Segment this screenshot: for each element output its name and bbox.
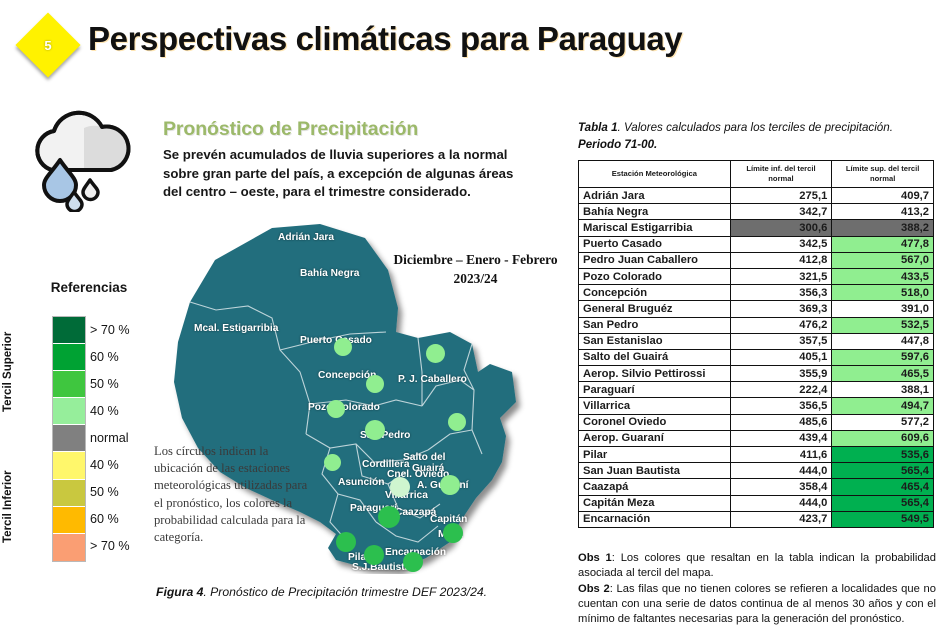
cell-lower-limit: 356,3 — [730, 285, 832, 301]
cell-upper-limit: 388,1 — [832, 382, 934, 398]
station-marker-0 — [334, 338, 352, 356]
cell-station: Encarnación — [579, 511, 731, 527]
table-head: Estación Meteorológica Límite inf. del t… — [579, 161, 934, 188]
cell-upper-limit: 535,6 — [832, 447, 934, 463]
table-row: Aerop. Silvio Pettirossi355,9465,5 — [579, 366, 934, 382]
legend-label-1: 60 % — [90, 343, 162, 370]
cell-lower-limit: 342,7 — [730, 204, 832, 220]
station-marker-2 — [366, 375, 384, 393]
cell-station: Mariscal Estigarribia — [579, 220, 731, 236]
cell-station: Bahía Negra — [579, 204, 731, 220]
cell-lower-limit: 358,4 — [730, 479, 832, 495]
table-row: Puerto Casado342,5477,8 — [579, 236, 934, 252]
legend-swatch-6 — [53, 480, 85, 507]
observations-notes: Obs 1: Los colores que resaltan en la ta… — [578, 551, 936, 627]
cell-lower-limit: 356,5 — [730, 398, 832, 414]
cell-lower-limit: 485,6 — [730, 414, 832, 430]
cell-station: Coronel Oviedo — [579, 414, 731, 430]
legend-label-4: normal — [90, 424, 162, 451]
cell-upper-limit: 609,6 — [832, 430, 934, 446]
table-caption-text: . Valores calculados para los terciles d… — [618, 121, 893, 134]
forecast-heading: Pronóstico de Precipitación — [163, 118, 418, 141]
map-period-label: Diciembre – Enero - Febrero 2023/24 — [383, 250, 568, 288]
table-row: Capitán Meza444,0565,4 — [579, 495, 934, 511]
cell-upper-limit: 391,0 — [832, 301, 934, 317]
page-header: 5 Perspectivas climáticas para Paraguay — [0, 0, 944, 88]
cell-lower-limit: 444,0 — [730, 495, 832, 511]
station-marker-10 — [443, 523, 463, 543]
table-caption-period: Periodo 71-00. — [578, 138, 657, 151]
cell-upper-limit: 465,4 — [832, 479, 934, 495]
station-marker-13 — [403, 552, 423, 572]
legend-swatch-7 — [53, 507, 85, 534]
table-row: Caazapá358,4465,4 — [579, 479, 934, 495]
map-circles-note: Los círculos indican la ubicación de las… — [154, 443, 314, 546]
table-row: Pozo Colorado321,5433,5 — [579, 268, 934, 284]
cell-upper-limit: 413,2 — [832, 204, 934, 220]
table-row: San Pedro476,2532,5 — [579, 317, 934, 333]
cell-lower-limit: 369,3 — [730, 301, 832, 317]
figure-caption-text: . Pronóstico de Precipitación trimestre … — [203, 585, 487, 599]
cell-upper-limit: 577,2 — [832, 414, 934, 430]
legend-label-7: 60 % — [90, 506, 162, 533]
station-marker-3 — [327, 400, 345, 418]
cell-upper-limit: 465,5 — [832, 366, 934, 382]
station-marker-5 — [448, 413, 466, 431]
station-marker-4 — [365, 420, 385, 440]
section-number-label: 5 — [25, 22, 71, 68]
table-row: Coronel Oviedo485,6577,2 — [579, 414, 934, 430]
legend-color-bar — [52, 316, 86, 562]
table-row: Paraguarí222,4388,1 — [579, 382, 934, 398]
station-marker-7 — [390, 477, 410, 497]
cell-station: Puerto Casado — [579, 236, 731, 252]
cell-station: General Bruguéz — [579, 301, 731, 317]
table-row: San Juan Bautista444,0565,4 — [579, 463, 934, 479]
forecast-description: Se prevén acumulados de lluvia superiore… — [163, 146, 523, 202]
observation-2: Obs 2: Las filas que no tienen colores s… — [578, 582, 936, 628]
cell-station: San Pedro — [579, 317, 731, 333]
table-row: Pilar411,6535,6 — [579, 447, 934, 463]
table-row: Salto del Guairá405,1597,6 — [579, 349, 934, 365]
cell-station: Aerop. Silvio Pettirossi — [579, 366, 731, 382]
table-header-row: Estación Meteorológica Límite inf. del t… — [579, 161, 934, 188]
table-row: Pedro Juan Caballero412,8567,0 — [579, 252, 934, 268]
legend-swatch-8 — [53, 534, 85, 561]
figure-caption-label: Figura 4 — [156, 585, 203, 599]
legend-label-3: 40 % — [90, 397, 162, 424]
observation-label-2: Obs 2 — [578, 583, 610, 595]
cell-station: Caazapá — [579, 479, 731, 495]
cell-lower-limit: 412,8 — [730, 252, 832, 268]
cell-station: Pedro Juan Caballero — [579, 252, 731, 268]
legend-swatch-5 — [53, 452, 85, 479]
table-row: San Estanislao357,5447,8 — [579, 333, 934, 349]
cell-lower-limit: 222,4 — [730, 382, 832, 398]
cell-upper-limit: 388,2 — [832, 220, 934, 236]
station-marker-6 — [324, 454, 341, 471]
page-title: Perspectivas climáticas para Paraguay — [88, 20, 682, 58]
station-marker-12 — [364, 545, 384, 565]
legend-swatch-4 — [53, 425, 85, 452]
cell-lower-limit: 444,0 — [730, 463, 832, 479]
cell-lower-limit: 357,5 — [730, 333, 832, 349]
station-marker-11 — [336, 532, 356, 552]
cell-upper-limit: 532,5 — [832, 317, 934, 333]
station-marker-1 — [426, 344, 445, 363]
figure-caption: Figura 4. Pronóstico de Precipitación tr… — [156, 585, 556, 599]
legend-label-0: > 70 % — [90, 316, 162, 343]
legend-label-2: 50 % — [90, 370, 162, 397]
legend-upper-tercile-label: Tercil Superior — [2, 318, 14, 426]
observation-label-1: Obs 1 — [578, 552, 612, 564]
cell-station: Paraguarí — [579, 382, 731, 398]
cell-lower-limit: 439,4 — [730, 430, 832, 446]
cell-station: San Juan Bautista — [579, 463, 731, 479]
column-header-upper-limit: Límite sup. del tercil normal — [832, 161, 934, 188]
legend-swatch-2 — [53, 371, 85, 398]
table-body: Adrián Jara275,1409,7Bahía Negra342,7413… — [579, 188, 934, 528]
observation-text-2: : Las filas que no tienen colores se ref… — [578, 583, 936, 626]
legend-label-5: 40 % — [90, 452, 162, 479]
cell-station: Villarrica — [579, 398, 731, 414]
cell-lower-limit: 355,9 — [730, 366, 832, 382]
cell-upper-limit: 565,4 — [832, 495, 934, 511]
cell-upper-limit: 565,4 — [832, 463, 934, 479]
cell-upper-limit: 549,5 — [832, 511, 934, 527]
cell-lower-limit: 321,5 — [730, 268, 832, 284]
cell-lower-limit: 342,5 — [730, 236, 832, 252]
cell-station: Capitán Meza — [579, 495, 731, 511]
cell-upper-limit: 494,7 — [832, 398, 934, 414]
cell-station: Concepción — [579, 285, 731, 301]
cell-upper-limit: 477,8 — [832, 236, 934, 252]
legend-label-6: 50 % — [90, 479, 162, 506]
column-header-station: Estación Meteorológica — [579, 161, 731, 188]
legend-label-8: > 70 % — [90, 533, 162, 560]
table-row: Adrián Jara275,1409,7 — [579, 188, 934, 204]
cell-station: Aerop. Guaraní — [579, 430, 731, 446]
table-row: Mariscal Estigarribia300,6388,2 — [579, 220, 934, 236]
cell-upper-limit: 597,6 — [832, 349, 934, 365]
cell-station: San Estanislao — [579, 333, 731, 349]
cell-station: Pilar — [579, 447, 731, 463]
map-period-line2: 2023/24 — [383, 269, 568, 288]
cell-lower-limit: 300,6 — [730, 220, 832, 236]
table-caption-label: Tabla 1 — [578, 121, 618, 134]
legend-swatch-3 — [53, 398, 85, 425]
cell-lower-limit: 411,6 — [730, 447, 832, 463]
cell-upper-limit: 447,8 — [832, 333, 934, 349]
cell-lower-limit: 275,1 — [730, 188, 832, 204]
cell-upper-limit: 567,0 — [832, 252, 934, 268]
cell-upper-limit: 409,7 — [832, 188, 934, 204]
table-row: General Bruguéz369,3391,0 — [579, 301, 934, 317]
legend-swatch-1 — [53, 344, 85, 371]
table-row: Villarrica356,5494,7 — [579, 398, 934, 414]
cell-station: Salto del Guairá — [579, 349, 731, 365]
cell-station: Adrián Jara — [579, 188, 731, 204]
table-row: Aerop. Guaraní439,4609,6 — [579, 430, 934, 446]
table-row: Concepción356,3518,0 — [579, 285, 934, 301]
observation-1: Obs 1: Los colores que resaltan en la ta… — [578, 551, 936, 582]
table-caption: Tabla 1. Valores calculados para los ter… — [578, 120, 936, 153]
legend-swatch-0 — [53, 317, 85, 344]
table-row: Bahía Negra342,7413,2 — [579, 204, 934, 220]
station-marker-8 — [440, 475, 460, 495]
cell-upper-limit: 518,0 — [832, 285, 934, 301]
tercile-values-table: Estación Meteorológica Límite inf. del t… — [578, 160, 934, 528]
cell-lower-limit: 405,1 — [730, 349, 832, 365]
column-header-lower-limit: Límite inf. del tercil normal — [730, 161, 832, 188]
map-period-line1: Diciembre – Enero - Febrero — [383, 250, 568, 269]
legend-lower-tercile-label: Tercil Inferior — [2, 454, 14, 560]
cell-station: Pozo Colorado — [579, 268, 731, 284]
rain-cloud-icon — [22, 108, 142, 212]
cell-lower-limit: 423,7 — [730, 511, 832, 527]
observation-text-1: : Los colores que resaltan en la tabla i… — [578, 552, 936, 579]
table-row: Encarnación423,7549,5 — [579, 511, 934, 527]
legend-title: Referencias — [30, 280, 148, 295]
station-marker-9 — [378, 506, 400, 528]
legend: Tercil Superior Tercil Inferior > 70 %60… — [20, 316, 165, 564]
cell-lower-limit: 476,2 — [730, 317, 832, 333]
cell-upper-limit: 433,5 — [832, 268, 934, 284]
